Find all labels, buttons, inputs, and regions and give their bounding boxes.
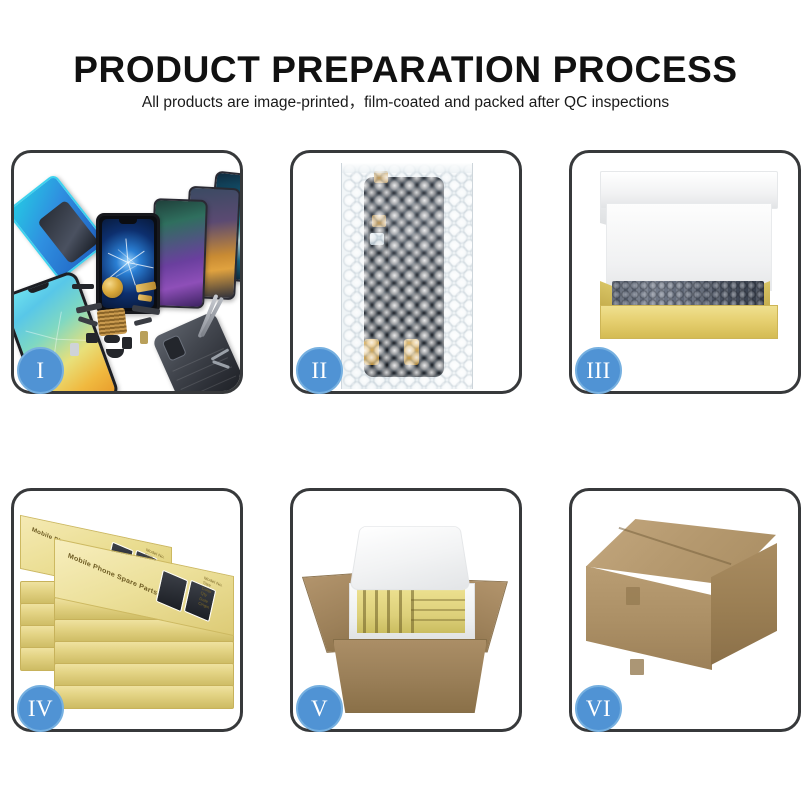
gold-boxes-inside: [357, 589, 465, 633]
sim-tray: [70, 343, 79, 356]
carton-left-face: [586, 566, 712, 670]
box-brand-label: Mobile Phone Spare Parts: [67, 553, 158, 597]
bag-seal: [342, 163, 472, 173]
component-chip: [104, 335, 120, 343]
step-badge-2: II: [296, 347, 343, 394]
step-badge-1: I: [17, 347, 64, 394]
carton-body: [333, 639, 487, 713]
stacked-box: [54, 685, 234, 709]
box-inner-back: [606, 203, 772, 291]
carton-tape: [630, 659, 644, 675]
stacked-box: [54, 641, 234, 665]
stacked-box: [54, 663, 234, 687]
component-chip: [72, 284, 94, 289]
step-badge-5: V: [296, 685, 343, 732]
camera-module: [106, 349, 124, 358]
taptic-engine-grid: [97, 308, 128, 337]
component-chip: [122, 337, 132, 349]
foam-cooler-lid: [349, 526, 470, 590]
flex-cable: [134, 317, 153, 326]
step-badge-4: IV: [17, 685, 64, 732]
component-chip: [86, 333, 98, 343]
box-product-photo: [156, 570, 189, 613]
carton-tape: [626, 587, 640, 605]
box-front-panel: [600, 305, 778, 339]
battery-connector: [140, 331, 148, 344]
phone-back-housing: [151, 311, 243, 394]
step-badge-3: III: [575, 347, 622, 394]
speaker-module: [102, 277, 123, 298]
process-steps-grid: I II: [0, 0, 811, 811]
step-badge-6: VI: [575, 685, 622, 732]
bubble-wrap-bag: [341, 163, 473, 389]
bubble-texture: [349, 170, 472, 389]
